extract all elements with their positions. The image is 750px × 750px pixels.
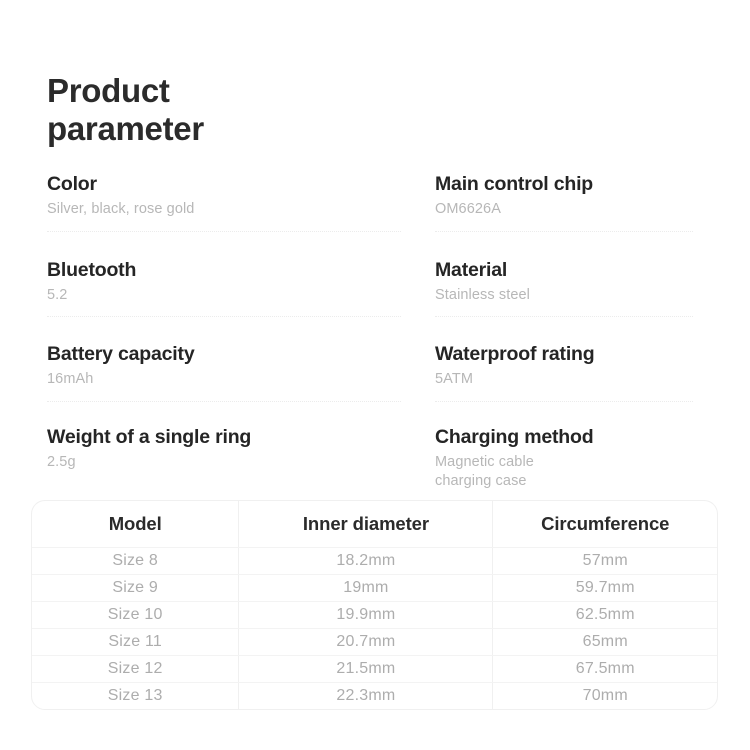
- spec-divider: [47, 316, 401, 317]
- spec-row: Bluetooth 5.2 Material Stainless steel: [47, 258, 703, 318]
- spec-row: Color Silver, black, rose gold Main cont…: [47, 172, 703, 232]
- spec-item-main-control-chip: Main control chip OM6626A: [435, 172, 703, 232]
- spec-value: Silver, black, rose gold: [47, 200, 425, 219]
- spec-label: Color: [47, 172, 425, 196]
- cell-inner-diameter: 19mm: [239, 575, 493, 602]
- spec-value: Magnetic cable charging case: [435, 453, 703, 491]
- table-row: Size 10 19.9mm 62.5mm: [32, 602, 717, 629]
- table-row: Size 13 22.3mm 70mm: [32, 683, 717, 710]
- cell-circumference: 65mm: [493, 629, 717, 656]
- spec-item-bluetooth: Bluetooth 5.2: [47, 258, 435, 318]
- table-header-model: Model: [32, 501, 239, 548]
- spec-value: OM6626A: [435, 200, 703, 219]
- product-parameter-page: Product parameter Color Silver, black, r…: [0, 0, 750, 750]
- spec-row: Weight of a single ring 2.5g Charging me…: [47, 425, 703, 503]
- page-title: Product parameter: [47, 72, 467, 149]
- spec-label: Weight of a single ring: [47, 425, 425, 449]
- spacer: [47, 317, 703, 342]
- cell-circumference: 70mm: [493, 683, 717, 710]
- spec-divider: [435, 231, 693, 232]
- cell-circumference: 67.5mm: [493, 656, 717, 683]
- spec-label: Charging method: [435, 425, 703, 449]
- spec-label: Material: [435, 258, 703, 282]
- table-row: Size 9 19mm 59.7mm: [32, 575, 717, 602]
- spec-value: 16mAh: [47, 370, 425, 389]
- cell-inner-diameter: 21.5mm: [239, 656, 493, 683]
- table-row: Size 11 20.7mm 65mm: [32, 629, 717, 656]
- spec-label: Main control chip: [435, 172, 703, 196]
- spec-divider: [47, 401, 401, 402]
- table-row: Size 12 21.5mm 67.5mm: [32, 656, 717, 683]
- table-header-row: Model Inner diameter Circumference: [32, 501, 717, 548]
- spec-row: Battery capacity 16mAh Waterproof rating…: [47, 342, 703, 402]
- cell-model: Size 9: [32, 575, 239, 602]
- spec-item-weight-of-a-single-ring: Weight of a single ring 2.5g: [47, 425, 435, 503]
- spec-label: Waterproof rating: [435, 342, 703, 366]
- cell-model: Size 8: [32, 548, 239, 575]
- cell-circumference: 57mm: [493, 548, 717, 575]
- table-header-circumference: Circumference: [493, 501, 717, 548]
- spec-value: 2.5g: [47, 453, 425, 472]
- spec-item-charging-method: Charging method Magnetic cable charging …: [435, 425, 703, 503]
- cell-model: Size 10: [32, 602, 239, 629]
- spec-label: Battery capacity: [47, 342, 425, 366]
- spec-value: 5.2: [47, 286, 425, 305]
- spacer: [47, 232, 703, 258]
- spec-grid: Color Silver, black, rose gold Main cont…: [47, 172, 703, 502]
- spec-divider: [47, 231, 401, 232]
- cell-model: Size 12: [32, 656, 239, 683]
- spec-divider: [435, 316, 693, 317]
- spec-label: Bluetooth: [47, 258, 425, 282]
- spec-divider: [435, 401, 693, 402]
- table-header-inner-diameter: Inner diameter: [239, 501, 493, 548]
- spec-value: 5ATM: [435, 370, 703, 389]
- cell-inner-diameter: 20.7mm: [239, 629, 493, 656]
- spec-item-waterproof-rating: Waterproof rating 5ATM: [435, 342, 703, 402]
- ring-size-table: Model Inner diameter Circumference Size …: [31, 500, 718, 710]
- cell-circumference: 62.5mm: [493, 602, 717, 629]
- table-row: Size 8 18.2mm 57mm: [32, 548, 717, 575]
- cell-inner-diameter: 18.2mm: [239, 548, 493, 575]
- cell-inner-diameter: 19.9mm: [239, 602, 493, 629]
- cell-inner-diameter: 22.3mm: [239, 683, 493, 710]
- spec-item-battery-capacity: Battery capacity 16mAh: [47, 342, 435, 402]
- spacer: [47, 402, 703, 425]
- cell-model: Size 13: [32, 683, 239, 710]
- spec-value: Stainless steel: [435, 286, 703, 305]
- spec-item-color: Color Silver, black, rose gold: [47, 172, 435, 232]
- spec-item-material: Material Stainless steel: [435, 258, 703, 318]
- cell-model: Size 11: [32, 629, 239, 656]
- cell-circumference: 59.7mm: [493, 575, 717, 602]
